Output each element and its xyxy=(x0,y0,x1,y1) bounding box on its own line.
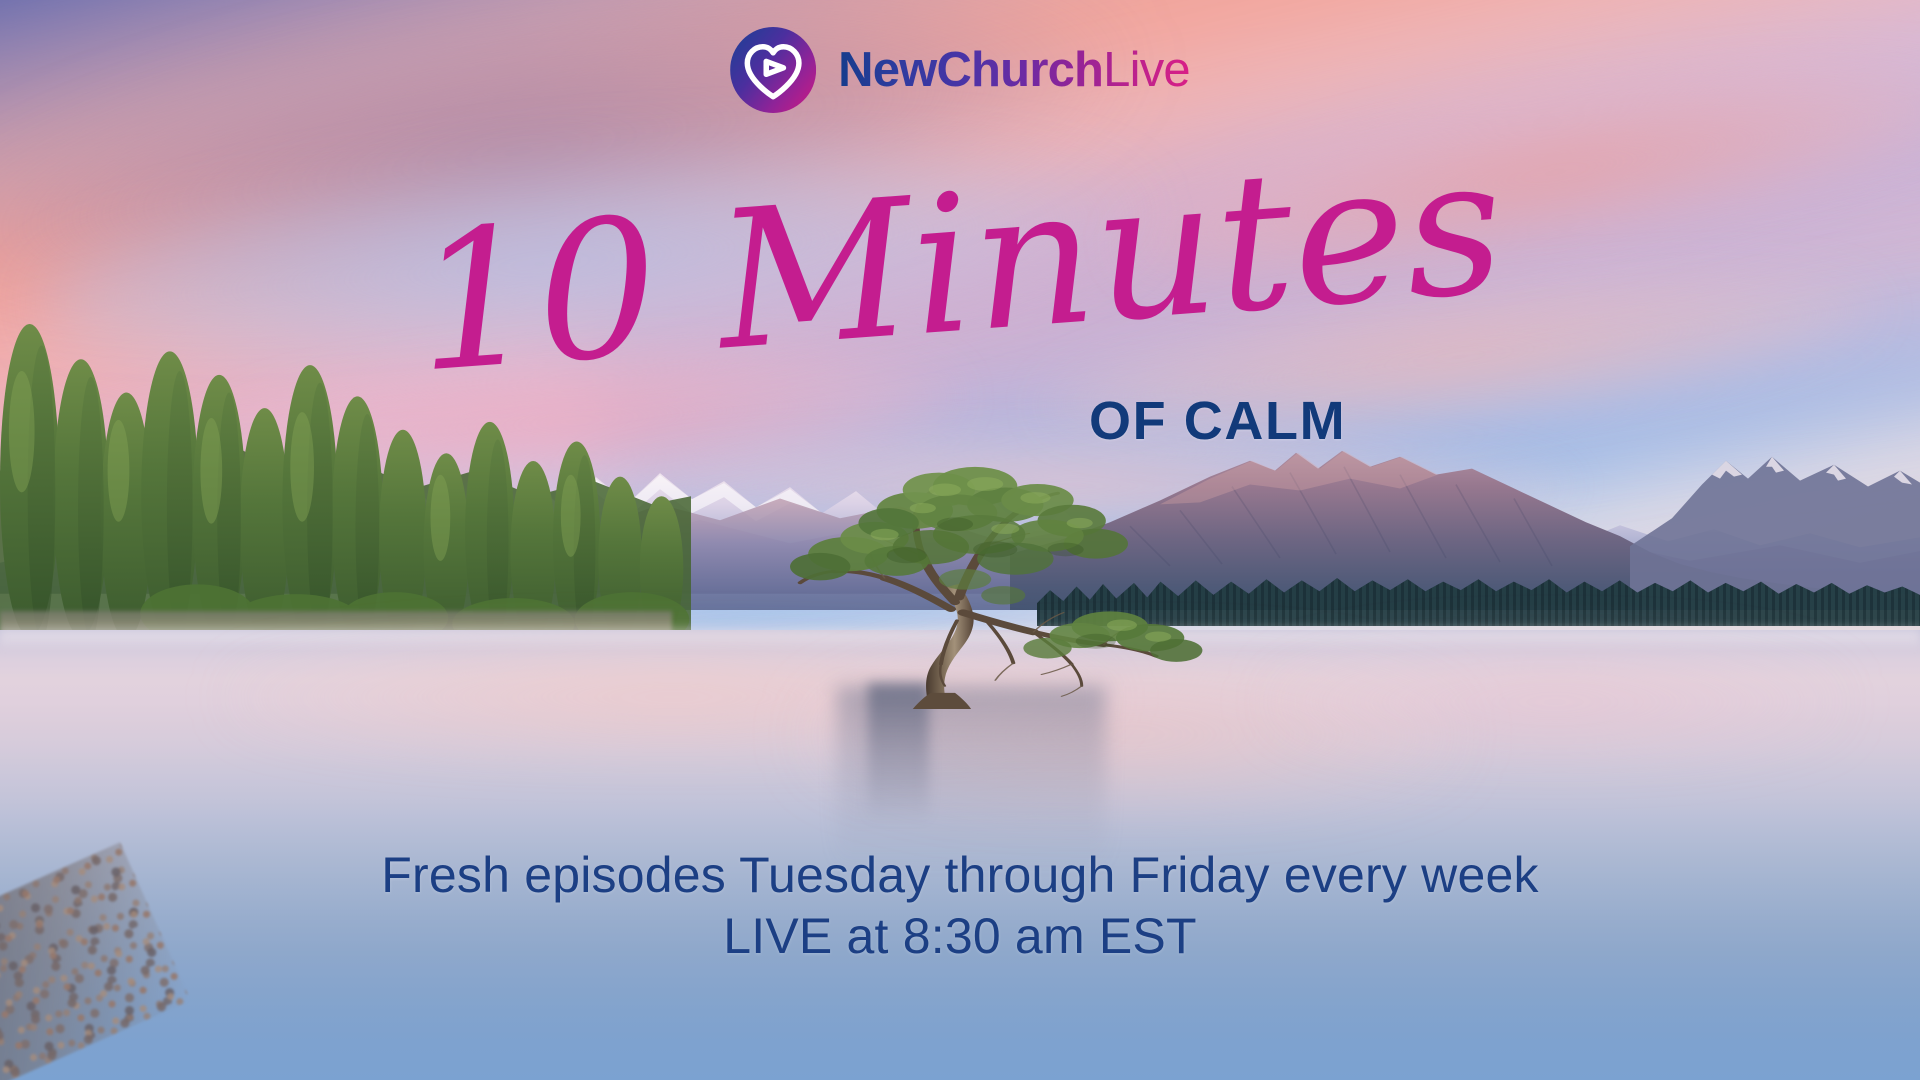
headline-subtitle: OF CALM xyxy=(1089,394,1346,448)
headline-script-text: 10 Minutes xyxy=(408,114,1510,414)
headline-script: 10 Minutes xyxy=(572,123,1348,428)
promo-poster: NewChurchLive 10 Minutes OF CALM Fresh e… xyxy=(0,0,1920,1080)
schedule-text: Fresh episodes Tuesday through Friday ev… xyxy=(0,845,1920,967)
wordmark-secondary: Live xyxy=(1103,43,1190,97)
poster-content: NewChurchLive 10 Minutes OF CALM Fresh e… xyxy=(0,0,1920,1080)
schedule-line-1: Fresh episodes Tuesday through Friday ev… xyxy=(0,845,1920,906)
wordmark-primary: NewChurch xyxy=(838,43,1103,97)
brand-logo[interactable]: NewChurchLive xyxy=(730,27,1190,113)
brand-wordmark: NewChurchLive xyxy=(838,46,1190,95)
schedule-line-2: LIVE at 8:30 am EST xyxy=(0,906,1920,967)
heart-play-icon xyxy=(730,27,816,113)
